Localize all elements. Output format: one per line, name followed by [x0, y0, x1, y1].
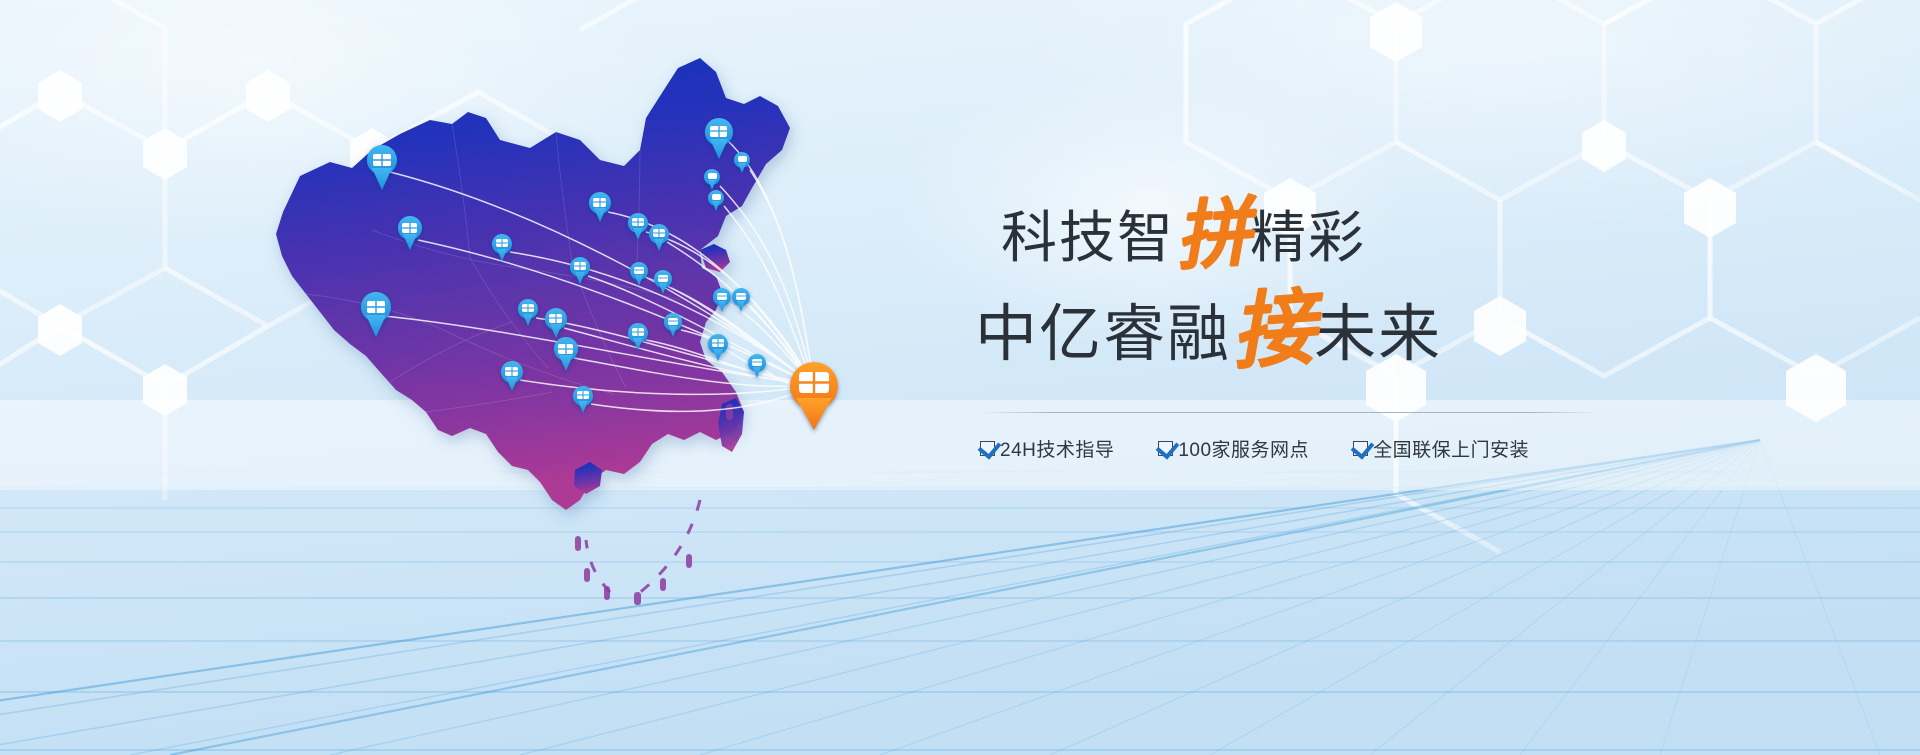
feature-item-0: 24H技术指导 — [980, 435, 1114, 462]
feature-item-2: 全国联保上门安装 — [1353, 435, 1529, 462]
headline-line1-post: 精彩 — [1250, 206, 1366, 269]
checkbox-checked-icon — [980, 441, 995, 456]
headline-block: 科技智拼精彩 中亿睿融接未来 — [975, 195, 1615, 369]
feature-item-1: 100家服务网点 — [1158, 435, 1309, 462]
headline-divider — [980, 412, 1600, 413]
feature-label: 全国联保上门安装 — [1373, 435, 1529, 462]
china-map — [0, 0, 1920, 755]
feature-list: 24H技术指导 100家服务网点 全国联保上门安装 — [980, 435, 1640, 462]
feature-label: 24H技术指导 — [1000, 435, 1114, 462]
checkbox-checked-icon — [1158, 441, 1173, 456]
headline-line1-accent: 拼 — [1173, 195, 1253, 275]
headline-line2-pre: 中亿睿融 — [975, 300, 1231, 369]
headline-line2-post: 未来 — [1314, 300, 1442, 369]
headline-line1-pre: 科技智 — [1001, 206, 1175, 269]
checkbox-checked-icon — [1353, 441, 1368, 456]
hero-banner: 科技智拼精彩 中亿睿融接未来 24H技术指导 100家服务网点 全国联保上门安装 — [0, 0, 1920, 755]
headline-line2-accent: 接 — [1228, 286, 1317, 375]
hub-pin — [790, 362, 838, 430]
headline-line-1: 科技智拼精彩 — [975, 195, 1615, 270]
feature-label: 100家服务网点 — [1178, 435, 1309, 462]
headline-line-2: 中亿睿融接未来 — [975, 286, 1615, 369]
